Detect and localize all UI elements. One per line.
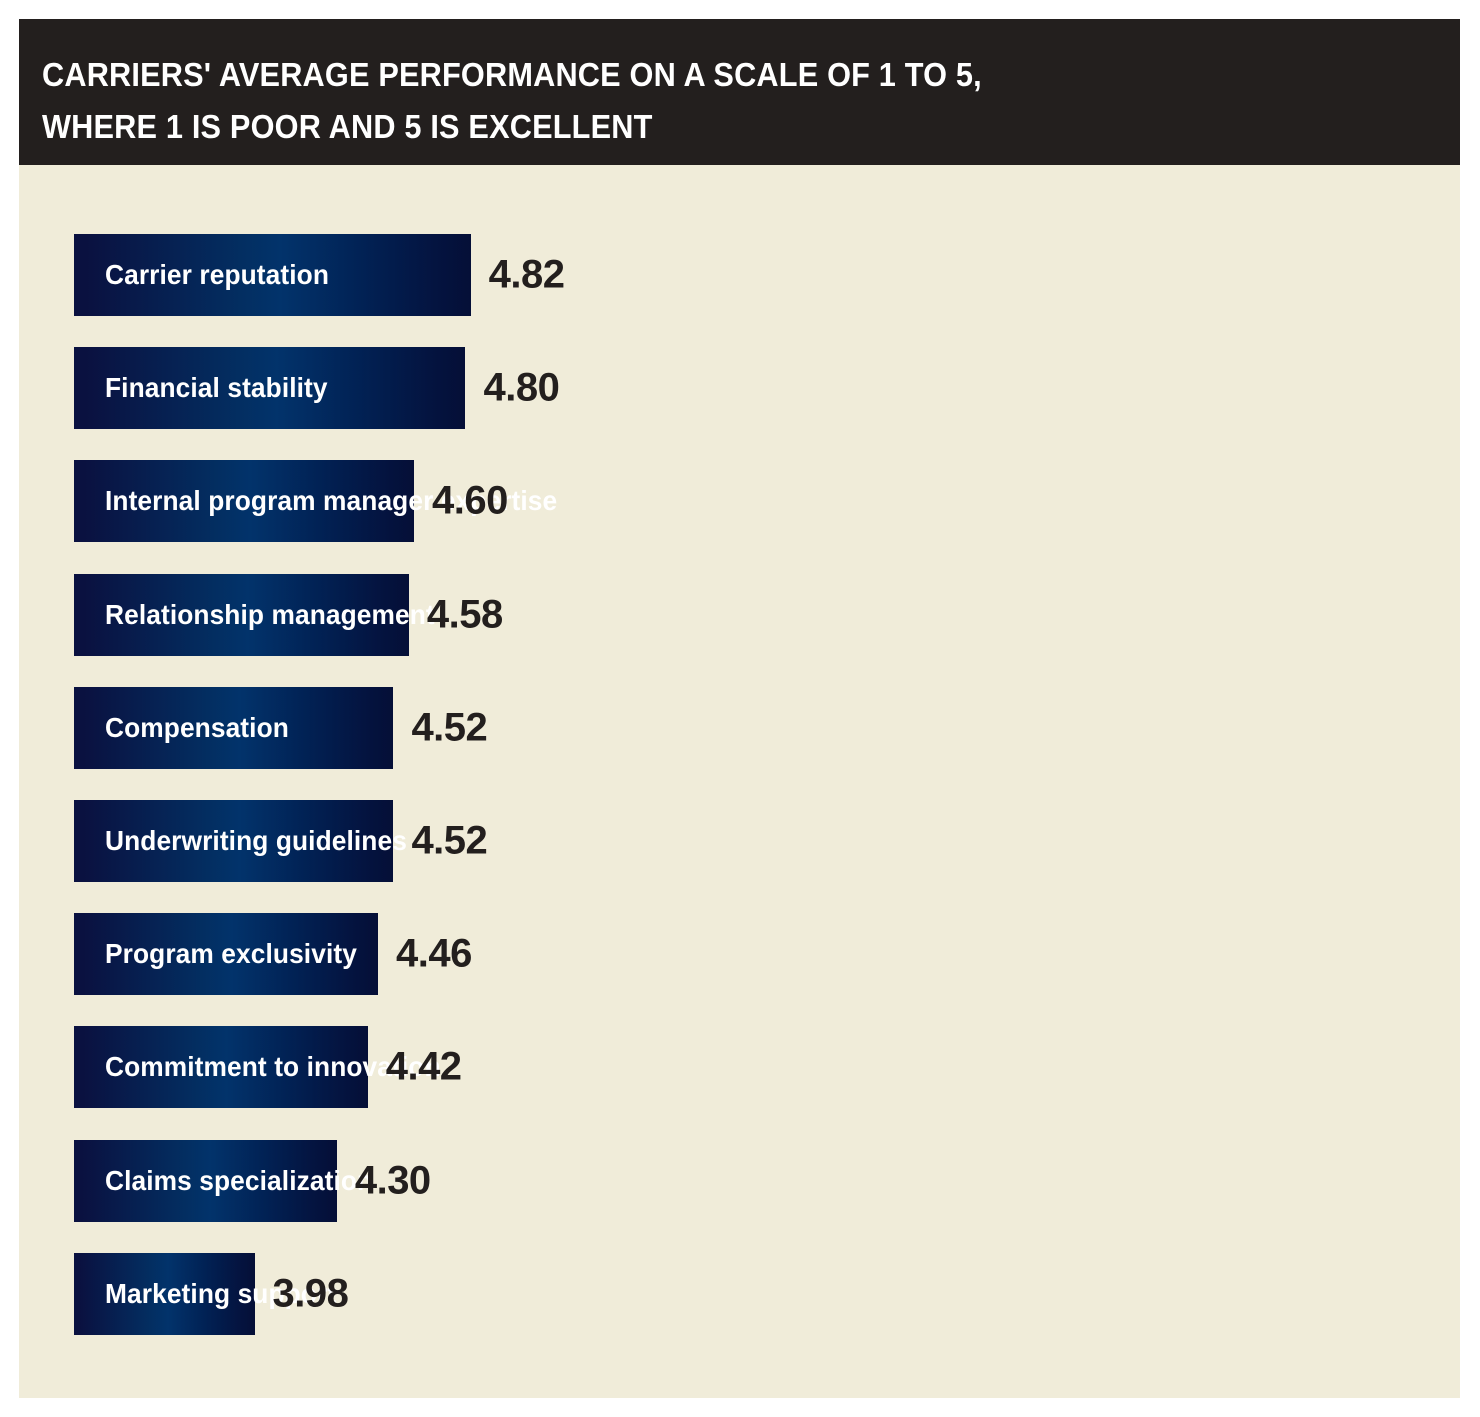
- bar-value-label: 4.82: [489, 253, 565, 298]
- bar-category-label: Financial stability: [105, 372, 328, 404]
- bar: Financial stability: [74, 347, 465, 429]
- bar-row: Claims specialization4.30: [19, 1140, 1460, 1222]
- bar: Relationship management: [74, 574, 409, 656]
- bar-category-label: Relationship management: [105, 599, 435, 631]
- bar: Program exclusivity: [74, 913, 378, 995]
- bar-category-label: Underwriting guidelines: [105, 825, 407, 857]
- bar-row: Marketing support3.98: [19, 1253, 1460, 1335]
- bar-row: Financial stability4.80: [19, 347, 1460, 429]
- bar-row: Underwriting guidelines4.52: [19, 800, 1460, 882]
- bar-value-label: 4.58: [427, 592, 503, 637]
- bar-value-label: 4.80: [483, 366, 559, 411]
- bar-category-label: Carrier reputation: [105, 259, 329, 291]
- bar-value-label: 3.98: [273, 1271, 349, 1316]
- bar-row: Commitment to innovation4.42: [19, 1026, 1460, 1108]
- bar-value-label: 4.60: [432, 479, 508, 524]
- bar: Commitment to innovation: [74, 1026, 368, 1108]
- bar-row: Internal program manager expertise4.60: [19, 460, 1460, 542]
- bar-row: Program exclusivity4.46: [19, 913, 1460, 995]
- bar: Claims specialization: [74, 1140, 337, 1222]
- bar: Marketing support: [74, 1253, 255, 1335]
- bar: Carrier reputation: [74, 234, 471, 316]
- bar: Internal program manager expertise: [74, 460, 414, 542]
- bar-category-label: Program exclusivity: [105, 938, 357, 970]
- bar-row: Compensation4.52: [19, 687, 1460, 769]
- bar-chart-plot-area: Carrier reputation4.82Financial stabilit…: [19, 165, 1460, 1398]
- bar-category-label: Compensation: [105, 712, 289, 744]
- chart-title-line-2: WHERE 1 IS POOR AND 5 IS EXCELLENT: [42, 101, 1288, 153]
- bar-value-label: 4.46: [396, 932, 472, 977]
- bar-value-label: 4.30: [355, 1158, 431, 1203]
- bar-value-label: 4.42: [386, 1045, 462, 1090]
- bar: Compensation: [74, 687, 393, 769]
- chart-header-band: CARRIERS' AVERAGE PERFORMANCE ON A SCALE…: [19, 19, 1460, 165]
- infographic-panel: CARRIERS' AVERAGE PERFORMANCE ON A SCALE…: [19, 19, 1460, 1398]
- bar-value-label: 4.52: [411, 819, 487, 864]
- chart-title-line-1: CARRIERS' AVERAGE PERFORMANCE ON A SCALE…: [42, 49, 1288, 101]
- chart-title: CARRIERS' AVERAGE PERFORMANCE ON A SCALE…: [42, 49, 1288, 153]
- bar-row: Relationship management4.58: [19, 574, 1460, 656]
- bar-row: Carrier reputation4.82: [19, 234, 1460, 316]
- bar-value-label: 4.52: [411, 705, 487, 750]
- bar: Underwriting guidelines: [74, 800, 393, 882]
- bar-category-label: Claims specialization: [105, 1165, 373, 1197]
